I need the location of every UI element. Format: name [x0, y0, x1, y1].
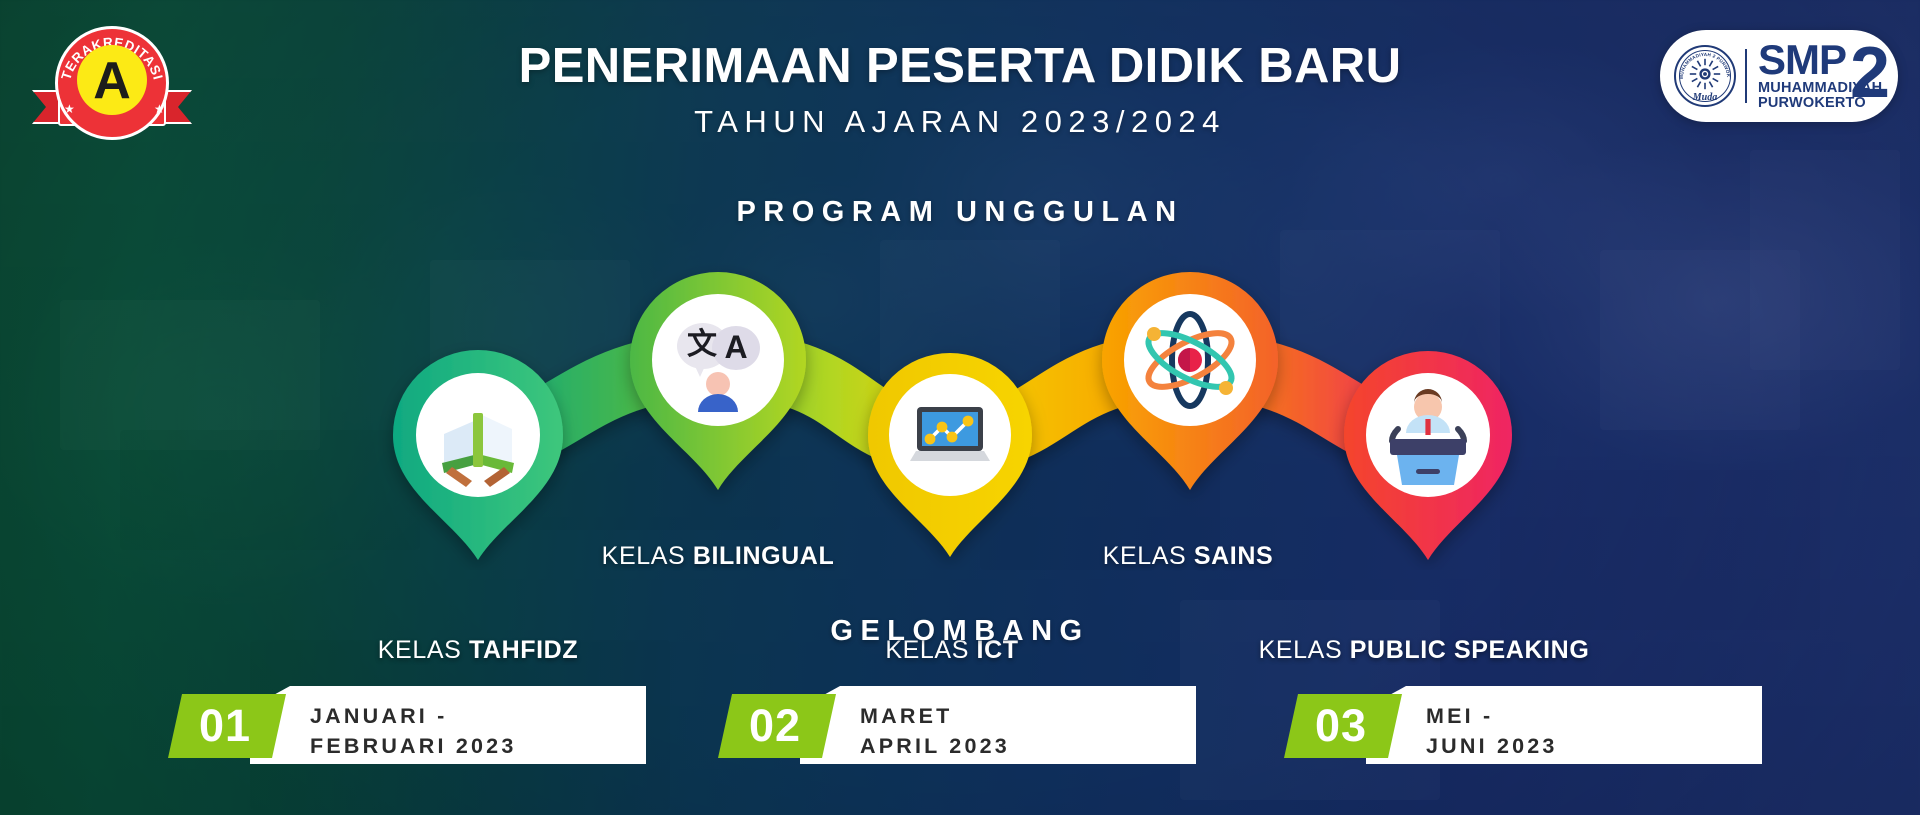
program-label-bilingual: KELAS BILINGUAL [602, 542, 835, 571]
wave-number-badge: 01 [168, 694, 286, 758]
program-labels: KELAS TAHFIDZ KELAS BILINGUAL KELAS ICT … [0, 230, 1920, 590]
wave-item-03[interactable]: 03 MEI - JUNI 2023 [1284, 686, 1762, 764]
wave-item-02[interactable]: 02 MARET APRIL 2023 [718, 686, 1196, 764]
seal-word: Muda [1693, 92, 1717, 103]
page-subtitle: TAHUN AJARAN 2023/2024 [0, 104, 1920, 140]
wave-period: MARET APRIL 2023 [860, 702, 1010, 761]
wave-period: JANUARI - FEBRUARI 2023 [310, 702, 516, 761]
wave-period: MEI - JUNI 2023 [1426, 702, 1558, 761]
ppdb-banner: AKREDITASI TERAKREDITASI ★ ★ A PENERIMAA… [0, 0, 1920, 815]
wave-number-badge: 03 [1284, 694, 1402, 758]
programs-section-title: PROGRAM UNGGULAN [0, 196, 1920, 229]
wave-item-01[interactable]: 01 JANUARI - FEBRUARI 2023 [168, 686, 646, 764]
sun-rays-icon [1689, 58, 1721, 90]
waves-section-title: GELOMBANG [0, 615, 1920, 648]
school-logo: SMP MUHAMMADIYAH 2 PURWOKERTO Muda SMP M… [1660, 30, 1898, 122]
program-label-sains: KELAS SAINS [1103, 542, 1274, 571]
muhammadiyah-seal-icon: SMP MUHAMMADIYAH 2 PURWOKERTO Muda [1674, 45, 1736, 107]
wave-number-badge: 02 [718, 694, 836, 758]
page-title: PENERIMAAN PESERTA DIDIK BARU [0, 38, 1920, 94]
school-number: 2 [1850, 37, 1890, 109]
waves-list: 01 JANUARI - FEBRUARI 2023 02 MARET APRI… [0, 686, 1920, 778]
logo-divider [1745, 49, 1747, 103]
